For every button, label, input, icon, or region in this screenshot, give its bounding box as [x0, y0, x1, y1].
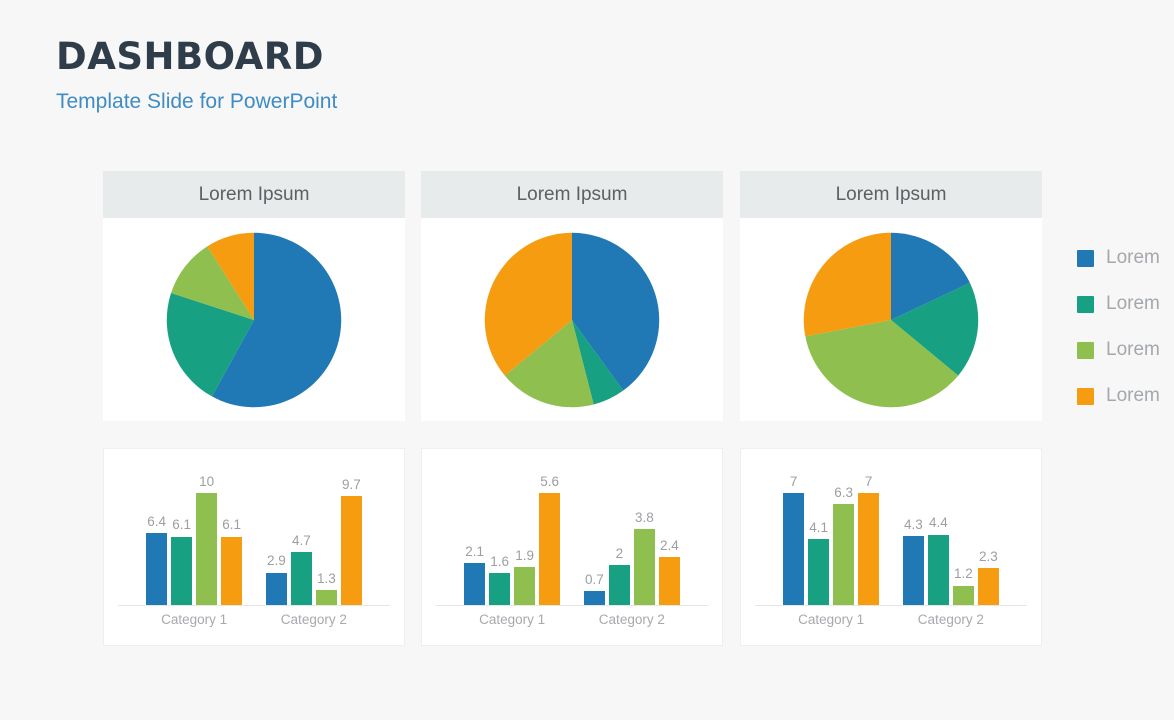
bar-rect: [514, 567, 535, 605]
category-axis-labels: Category 1Category 2: [118, 612, 390, 638]
bar-value-label: 6.1: [172, 518, 191, 532]
bar-rect: [609, 565, 630, 605]
bar-chart-card-2: 2.11.61.95.60.723.82.4Category 1Category…: [421, 448, 723, 646]
bar-value-label: 1.9: [515, 549, 534, 563]
category-axis-labels: Category 1Category 2: [755, 612, 1027, 638]
bar-column: 2.3: [978, 465, 999, 605]
bar-column: 2: [609, 465, 630, 605]
bar-rect: [291, 552, 312, 605]
pie-chart-body-1: [103, 218, 405, 421]
bar-rect: [953, 586, 974, 605]
bar-column: 4.4: [928, 465, 949, 605]
bar-value-label: 2.3: [979, 550, 998, 564]
bar-plot-area: 74.16.374.34.41.22.3: [755, 465, 1027, 605]
bar-column: 7: [858, 465, 879, 605]
bar-axis-line: [755, 605, 1027, 606]
category-label: Category 2: [918, 612, 984, 627]
bar-value-label: 4.7: [292, 534, 311, 548]
pie-svg-1: [165, 231, 343, 409]
bar-column: 6.4: [146, 465, 167, 605]
bar-rect: [341, 496, 362, 605]
bar-group: 74.16.37: [779, 465, 883, 605]
bar-column: 0.7: [584, 465, 605, 605]
bar-value-label: 10: [199, 475, 214, 489]
bar-column: 2.4: [659, 465, 680, 605]
category-label: Category 2: [599, 612, 665, 627]
category-label: Category 1: [798, 612, 864, 627]
bar-chart-card-1: 6.46.1106.12.94.71.39.7Category 1Categor…: [103, 448, 405, 646]
legend-swatch-icon: [1077, 296, 1094, 313]
bar-rect: [539, 493, 560, 605]
card-title-2: Lorem Ipsum: [421, 171, 723, 218]
bar-chart-2: 2.11.61.95.60.723.82.4Category 1Category…: [422, 449, 722, 645]
legend-item-1[interactable]: Lorem: [1077, 235, 1174, 281]
bar-column: 4.7: [291, 465, 312, 605]
bar-rect: [659, 557, 680, 605]
bar-chart-body-2: 2.11.61.95.60.723.82.4Category 1Category…: [422, 449, 722, 645]
bar-value-label: 6.1: [222, 518, 241, 532]
pie-svg-2: [483, 231, 661, 409]
bar-column: 10: [196, 465, 217, 605]
legend-swatch-icon: [1077, 250, 1094, 267]
page-title: DASHBOARD: [56, 38, 856, 77]
bar-group: 6.46.1106.1: [142, 465, 246, 605]
pie-chart-1: [165, 231, 343, 409]
legend-item-3[interactable]: Lorem: [1077, 327, 1174, 373]
legend-label: Lorem: [1106, 247, 1160, 269]
bar-value-label: 1.6: [490, 555, 509, 569]
bar-value-label: 2.4: [660, 539, 679, 553]
bar-chart-card-3: 74.16.374.34.41.22.3Category 1Category 2: [740, 448, 1042, 646]
bar-column: 6.3: [833, 465, 854, 605]
pie-chart-card-1: Lorem Ipsum: [103, 171, 405, 421]
bar-rect: [978, 568, 999, 605]
bar-plot-area: 2.11.61.95.60.723.82.4: [436, 465, 708, 605]
bar-rect: [146, 533, 167, 605]
bar-axis-line: [436, 605, 708, 606]
pie-chart-card-3: Lorem Ipsum: [740, 171, 1042, 421]
bar-value-label: 1.2: [954, 567, 973, 581]
bar-rect: [833, 504, 854, 605]
bar-rect: [584, 591, 605, 605]
pie-chart-body-3: [740, 218, 1042, 421]
legend-item-2[interactable]: Lorem: [1077, 281, 1174, 327]
bar-rect: [171, 537, 192, 605]
bar-column: 4.3: [903, 465, 924, 605]
pie-chart-body-2: [421, 218, 723, 421]
legend-label: Lorem: [1106, 339, 1160, 361]
category-axis-labels: Category 1Category 2: [436, 612, 708, 638]
card-title-3: Lorem Ipsum: [740, 171, 1042, 218]
bar-value-label: 6.4: [147, 515, 166, 529]
page-header: DASHBOARD Template Slide for PowerPoint: [56, 38, 856, 114]
bar-rect: [858, 493, 879, 605]
bar-column: 1.3: [316, 465, 337, 605]
bar-column: 9.7: [341, 465, 362, 605]
bar-rect: [928, 535, 949, 605]
pie-chart-2: [483, 231, 661, 409]
bar-column: 6.1: [171, 465, 192, 605]
bar-axis-line: [118, 605, 390, 606]
pie-chart-card-2: Lorem Ipsum: [421, 171, 723, 421]
bar-rect: [634, 529, 655, 605]
bar-value-label: 4.1: [809, 521, 828, 535]
bar-value-label: 2.9: [267, 554, 286, 568]
legend-label: Lorem: [1106, 385, 1160, 407]
bar-column: 6.1: [221, 465, 242, 605]
bar-column: 1.6: [489, 465, 510, 605]
legend-swatch-icon: [1077, 388, 1094, 405]
bar-column: 7: [783, 465, 804, 605]
bar-value-label: 1.3: [317, 572, 336, 586]
bar-column: 2.9: [266, 465, 287, 605]
bar-rect: [903, 536, 924, 605]
bar-group: 2.94.71.39.7: [262, 465, 366, 605]
bar-rect: [808, 539, 829, 605]
bar-rect: [221, 537, 242, 605]
bar-value-label: 2: [616, 547, 624, 561]
page-subtitle: Template Slide for PowerPoint: [56, 89, 856, 114]
bar-group: 4.34.41.22.3: [899, 465, 1003, 605]
bar-rect: [196, 493, 217, 605]
card-title-1: Lorem Ipsum: [103, 171, 405, 218]
bar-plot-area: 6.46.1106.12.94.71.39.7: [118, 465, 390, 605]
bar-chart-body-3: 74.16.374.34.41.22.3Category 1Category 2: [741, 449, 1041, 645]
bar-rect: [489, 573, 510, 605]
bar-column: 5.6: [539, 465, 560, 605]
bar-column: 2.1: [464, 465, 485, 605]
bar-value-label: 6.3: [834, 486, 853, 500]
bar-column: 1.9: [514, 465, 535, 605]
bar-value-label: 7: [790, 475, 798, 489]
bar-rect: [316, 590, 337, 605]
legend-swatch-icon: [1077, 342, 1094, 359]
bar-rect: [783, 493, 804, 605]
chart-legend: LoremLoremLoremLorem: [1077, 235, 1174, 419]
legend-label: Lorem: [1106, 293, 1160, 315]
bar-column: 1.2: [953, 465, 974, 605]
bar-group: 2.11.61.95.6: [460, 465, 564, 605]
bar-chart-3: 74.16.374.34.41.22.3Category 1Category 2: [741, 449, 1041, 645]
bar-value-label: 7: [865, 475, 873, 489]
bar-column: 4.1: [808, 465, 829, 605]
bar-value-label: 2.1: [465, 545, 484, 559]
bar-rect: [266, 573, 287, 606]
bar-chart-1: 6.46.1106.12.94.71.39.7Category 1Categor…: [104, 449, 404, 645]
bar-value-label: 5.6: [540, 475, 559, 489]
bar-value-label: 9.7: [342, 478, 361, 492]
bar-column: 3.8: [634, 465, 655, 605]
bar-chart-body-1: 6.46.1106.12.94.71.39.7Category 1Categor…: [104, 449, 404, 645]
category-label: Category 2: [281, 612, 347, 627]
bar-value-label: 0.7: [585, 573, 604, 587]
legend-item-4[interactable]: Lorem: [1077, 373, 1174, 419]
category-label: Category 1: [479, 612, 545, 627]
category-label: Category 1: [161, 612, 227, 627]
pie-chart-3: [802, 231, 980, 409]
bar-value-label: 4.4: [929, 516, 948, 530]
pie-svg-3: [802, 231, 980, 409]
bar-group: 0.723.82.4: [580, 465, 684, 605]
bar-rect: [464, 563, 485, 605]
bar-value-label: 4.3: [904, 518, 923, 532]
pie-slice: [804, 232, 891, 336]
bar-value-label: 3.8: [635, 511, 654, 525]
